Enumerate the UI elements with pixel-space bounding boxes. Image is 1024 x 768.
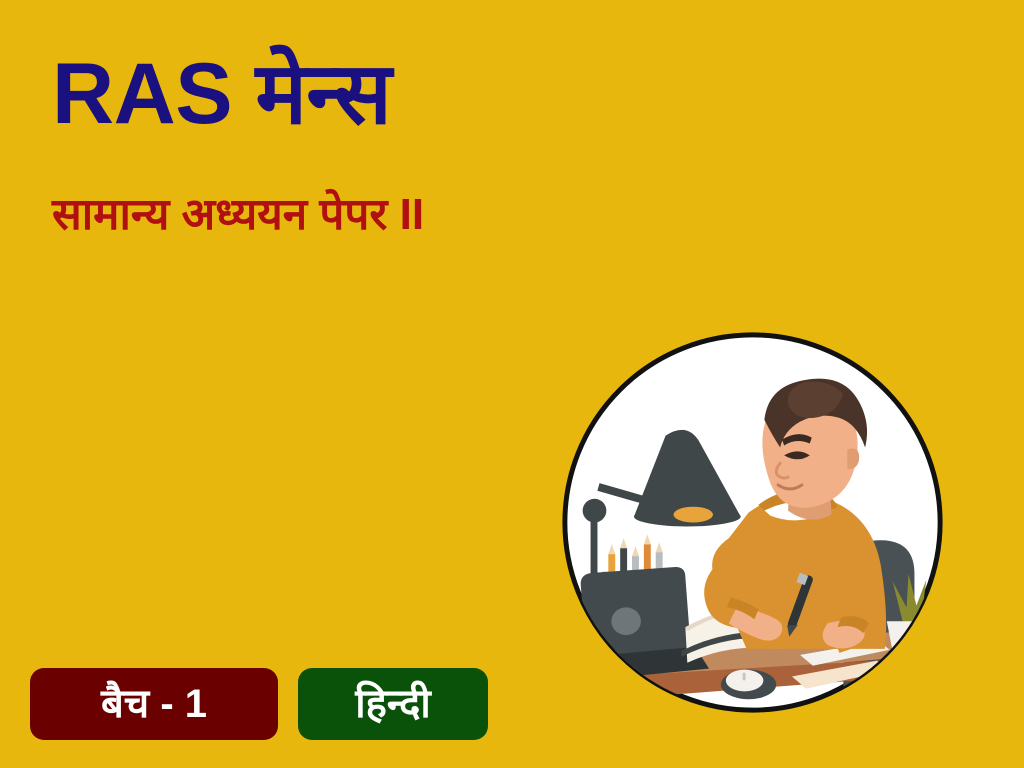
badge-row: बैच - 1 हिन्दी bbox=[30, 668, 488, 740]
badge-batch[interactable]: बैच - 1 bbox=[30, 668, 278, 740]
computer-mouse bbox=[721, 670, 776, 700]
page-title: RAS मेन्स bbox=[52, 48, 391, 141]
badge-language[interactable]: हिन्दी bbox=[298, 668, 488, 740]
page-subtitle: सामान्य अध्ययन पेपर II bbox=[52, 190, 424, 239]
course-banner: RAS मेन्स सामान्य अध्ययन पेपर II bbox=[0, 0, 1024, 768]
illustration-circle bbox=[555, 325, 950, 720]
